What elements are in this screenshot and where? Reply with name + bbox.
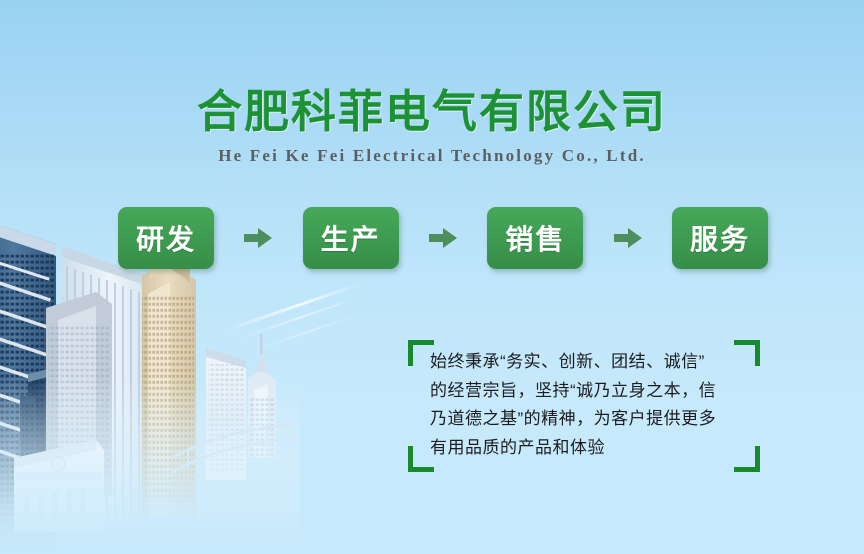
light-streak-icon: [258, 314, 357, 350]
mission-line: 始终秉承“务实、创新、团结、诚信”: [430, 348, 746, 377]
process-step-sales[interactable]: 销售: [487, 207, 583, 269]
company-banner: 合肥科菲电气有限公司 He Fei Ke Fei Electrical Tech…: [0, 0, 864, 554]
mission-line: 的经营宗旨，坚持“诚乃立身之本，信: [430, 377, 746, 406]
mission-line: 有用品质的产品和体验: [430, 434, 746, 463]
mission-line: 乃道德之基”的精神，为客户提供更多: [430, 405, 746, 434]
process-step-research[interactable]: 研发: [118, 207, 214, 269]
page-subtitle: He Fei Ke Fei Electrical Technology Co.,…: [0, 145, 864, 167]
light-streak-icon: [238, 296, 360, 340]
mission-statement-text: 始终秉承“务实、创新、团结、诚信” 的经营宗旨，坚持“诚乃立身之本，信 乃道德之…: [430, 348, 746, 462]
process-step-production[interactable]: 生产: [303, 207, 399, 269]
light-streak-icon: [222, 281, 365, 333]
mission-statement-block: 始终秉承“务实、创新、团结、诚信” 的经营宗旨，坚持“诚乃立身之本，信 乃道德之…: [408, 340, 760, 472]
arrow-right-icon: [399, 227, 488, 249]
arrow-right-icon: [214, 227, 303, 249]
arrow-right-icon: [583, 227, 672, 249]
cityscape-image: [0, 128, 300, 554]
page-title: 合肥科菲电气有限公司: [0, 86, 864, 138]
process-steps: 研发 生产 销售 服务: [118, 206, 768, 270]
process-step-service[interactable]: 服务: [672, 207, 768, 269]
